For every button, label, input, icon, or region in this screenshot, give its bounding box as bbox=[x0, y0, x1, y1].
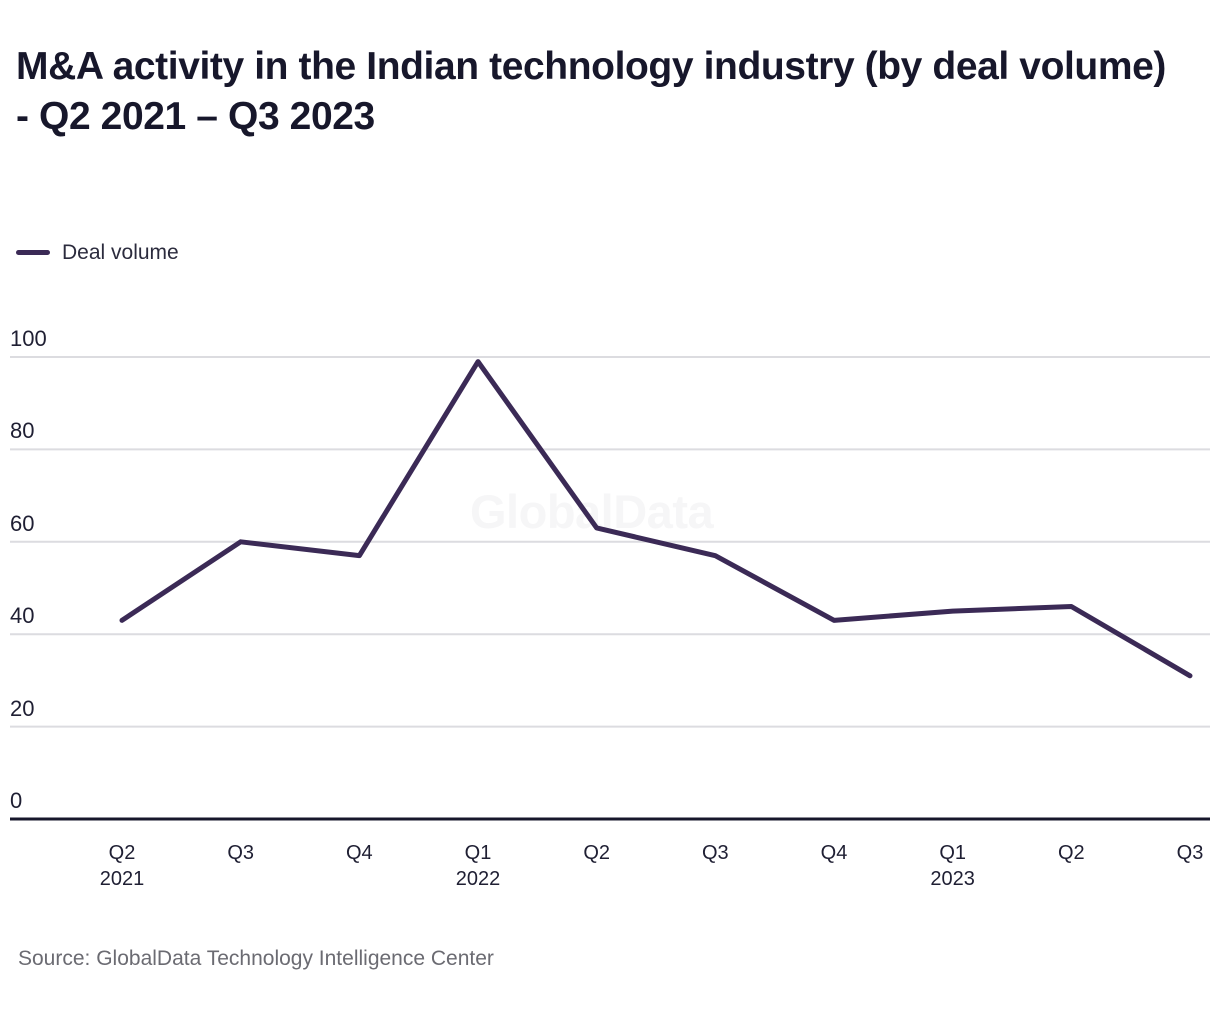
x-tick-quarter: Q3 bbox=[227, 842, 254, 864]
y-axis-tick-20: 20 bbox=[10, 698, 34, 720]
x-axis-tick-Q3-1: Q3 bbox=[227, 840, 254, 892]
y-axis-tick-60: 60 bbox=[10, 513, 34, 535]
x-tick-year bbox=[583, 866, 610, 892]
x-tick-year bbox=[821, 866, 848, 892]
gridlines bbox=[10, 357, 1210, 727]
x-tick-year bbox=[1177, 866, 1204, 892]
x-tick-quarter: Q4 bbox=[346, 842, 373, 864]
y-axis-tick-100: 100 bbox=[10, 328, 47, 350]
x-axis-tick-Q4-2: Q4 bbox=[346, 840, 373, 892]
x-axis-tick-Q2-4: Q2 bbox=[583, 840, 610, 892]
legend-line-swatch-deal-volume bbox=[16, 250, 50, 255]
x-tick-year: 2021 bbox=[100, 866, 145, 892]
x-axis-tick-Q2-2021: Q22021 bbox=[100, 840, 145, 892]
x-tick-quarter: Q3 bbox=[1177, 842, 1204, 864]
y-axis-tick-80: 80 bbox=[10, 420, 34, 442]
x-tick-year bbox=[227, 866, 254, 892]
x-axis-tick-Q1-2023: Q12023 bbox=[930, 840, 975, 892]
x-tick-year bbox=[702, 866, 729, 892]
x-axis-tick-Q3-9: Q3 bbox=[1177, 840, 1204, 892]
y-axis-tick-0: 0 bbox=[10, 790, 22, 812]
legend-label-deal-volume: Deal volume bbox=[62, 242, 179, 263]
x-tick-year bbox=[1058, 866, 1085, 892]
x-tick-quarter: Q2 bbox=[583, 842, 610, 864]
source-note: Source: GlobalData Technology Intelligen… bbox=[18, 948, 494, 969]
x-tick-quarter: Q2 bbox=[1058, 842, 1085, 864]
globaldata-watermark: GlobalData bbox=[470, 484, 713, 539]
x-tick-quarter: Q4 bbox=[821, 842, 848, 864]
x-axis-tick-Q2-8: Q2 bbox=[1058, 840, 1085, 892]
x-tick-quarter: Q2 bbox=[109, 842, 136, 864]
x-tick-quarter: Q1 bbox=[465, 842, 492, 864]
x-axis-tick-Q3-5: Q3 bbox=[702, 840, 729, 892]
y-axis-tick-40: 40 bbox=[10, 605, 34, 627]
x-axis-tick-Q1-2022: Q12022 bbox=[456, 840, 501, 892]
chart-card: M&A activity in the Indian technology in… bbox=[0, 0, 1220, 1020]
x-tick-quarter: Q3 bbox=[702, 842, 729, 864]
x-tick-year bbox=[346, 866, 373, 892]
x-tick-year: 2023 bbox=[930, 866, 975, 892]
x-tick-quarter: Q1 bbox=[939, 842, 966, 864]
x-axis-tick-Q4-6: Q4 bbox=[821, 840, 848, 892]
chart-legend: Deal volume bbox=[16, 242, 179, 263]
page-title: M&A activity in the Indian technology in… bbox=[16, 42, 1186, 142]
x-tick-year: 2022 bbox=[456, 866, 501, 892]
